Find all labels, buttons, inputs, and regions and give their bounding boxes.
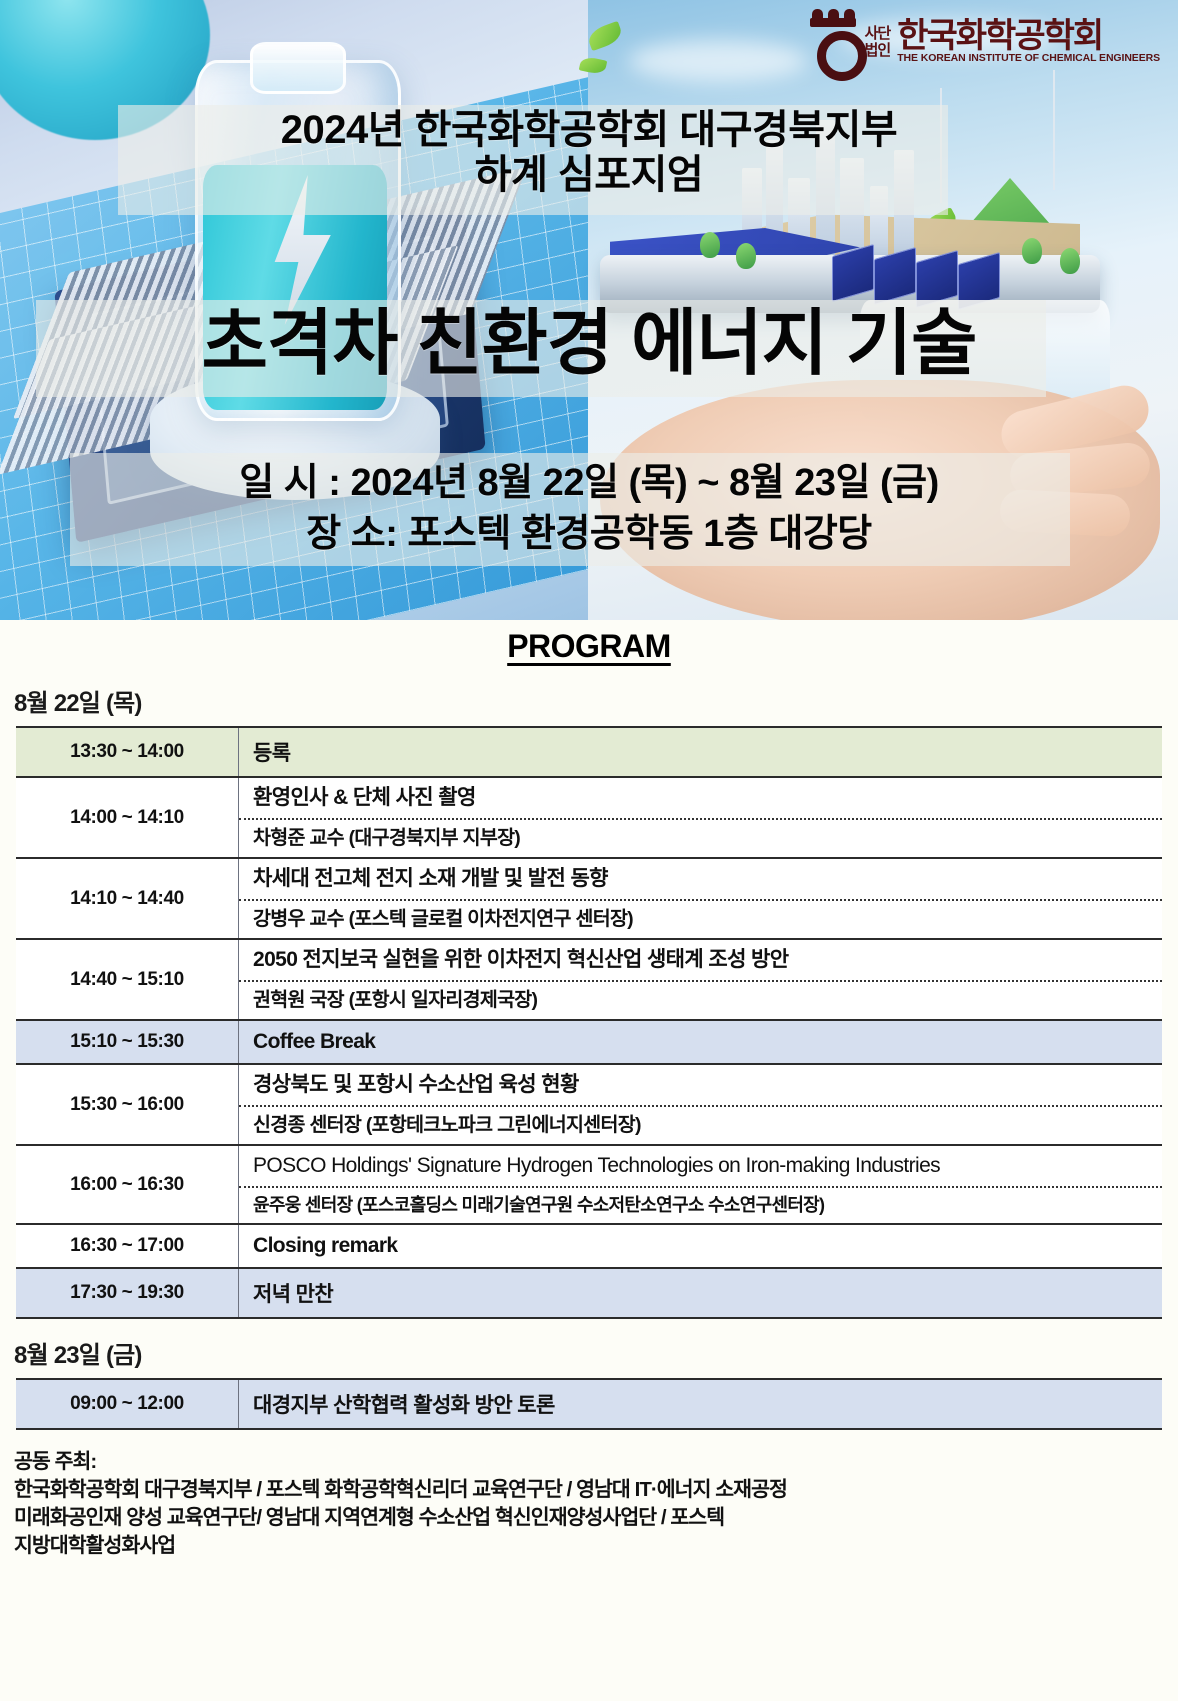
row-time: 15:30 ~ 16:00 [16,1064,239,1145]
table-row: 14:10 ~ 14:40 차세대 전고체 전지 소재 개발 및 발전 동향 강… [16,858,1162,939]
table-row: 15:30 ~ 16:00 경상북도 및 포항시 수소산업 육성 현황 신경종 … [16,1064,1162,1145]
session-speaker: 신경종 센터장 (포항테크노파크 그린에너지센터장) [239,1105,1162,1144]
co-hosts-block: 공동 주최: 한국화학공학회 대구경북지부 / 포스텍 화학공학혁신리더 교육연… [0,1430,1178,1570]
row-content: Closing remark [239,1224,1163,1268]
session-title: POSCO Holdings' Signature Hydrogen Techn… [239,1146,1162,1186]
row-content: Coffee Break [239,1020,1163,1064]
session-speaker: 권혁원 국장 (포항시 일자리경제국장) [239,980,1162,1019]
table-row: 14:40 ~ 15:10 2050 전지보국 실현을 위한 이차전지 혁신산업… [16,939,1162,1020]
row-single-label: 저녁 만찬 [239,1269,1162,1317]
row-single-label: Closing remark [239,1225,1162,1267]
row-time: 16:00 ~ 16:30 [16,1145,239,1224]
session-speaker: 차형준 교수 (대구경북지부 지부장) [239,818,1162,857]
row-time: 09:00 ~ 12:00 [16,1379,239,1429]
tree-icon [1022,238,1042,264]
row-content: 저녁 만찬 [239,1268,1163,1318]
logo-corporation-prefix: 사단 법인 [865,26,891,58]
table-row: 16:00 ~ 16:30 POSCO Holdings' Signature … [16,1145,1162,1224]
table-row: 09:00 ~ 12:00 대경지부 산학협력 활성화 방안 토론 [16,1379,1162,1429]
session-title: 차세대 전고체 전지 소재 개발 및 발전 동향 [239,859,1162,899]
co-hosts-line-3: 지방대학활성화사업 [14,1532,1178,1560]
row-time: 14:40 ~ 15:10 [16,939,239,1020]
poster-main-title: 초격차 친환경 에너지 기술 [0,304,1178,385]
row-time: 13:30 ~ 14:00 [16,727,239,777]
logo-prefix-line2: 법인 [865,43,891,58]
row-content: 2050 전지보국 실현을 위한 이차전지 혁신산업 생태계 조성 방안 권혁원… [239,939,1163,1020]
row-single-label: 대경지부 산학협력 활성화 방안 토론 [239,1380,1162,1428]
logo-prefix-line1: 사단 [865,26,891,41]
logo-names: 한국화학공학회 THE KOREAN INSTITUTE OF CHEMICAL… [897,20,1160,65]
logo-korean-name: 한국화학공학회 [897,20,1160,52]
row-time: 15:10 ~ 15:30 [16,1020,239,1064]
table-row: 15:10 ~ 15:30 Coffee Break [16,1020,1162,1064]
session-title: 환영인사 & 단체 사진 촬영 [239,778,1162,818]
event-date-line: 일 시 : 2024년 8월 22일 (목) ~ 8월 23일 (금) [0,458,1178,509]
event-venue-line: 장 소: 포스텍 환경공학동 1층 대강당 [0,509,1178,560]
tree-icon [700,232,720,258]
program-section: PROGRAM 8월 22일 (목) 13:30 ~ 14:00 등록 14:0… [0,620,1178,1570]
table-row: 16:30 ~ 17:00 Closing remark [16,1224,1162,1268]
row-content: 등록 [239,727,1163,777]
row-content: 경상북도 및 포항시 수소산업 육성 현황 신경종 센터장 (포항테크노파크 그… [239,1064,1163,1145]
tree-icon [1060,248,1080,274]
headline-line-2: 하계 심포지엄 [0,153,1178,198]
session-speaker: 강병우 교수 (포스텍 글로컬 이차전지연구 센터장) [239,899,1162,938]
row-time: 17:30 ~ 19:30 [16,1268,239,1318]
co-hosts-label: 공동 주최: [14,1448,1178,1476]
tree-icon [736,243,756,269]
program-table-day1: 13:30 ~ 14:00 등록 14:00 ~ 14:10 환영인사 & 단체… [16,726,1162,1319]
day-header-1: 8월 22일 (목) [0,667,1178,726]
row-single-label: Coffee Break [239,1021,1162,1063]
cloud-decor [628,40,808,82]
leaf-decor [586,21,625,51]
row-time: 14:10 ~ 14:40 [16,858,239,939]
headline-line-1: 2024년 한국화학공학회 대구경북지부 [0,108,1178,153]
table-row: 17:30 ~ 19:30 저녁 만찬 [16,1268,1162,1318]
session-title: 2050 전지보국 실현을 위한 이차전지 혁신산업 생태계 조성 방안 [239,940,1162,980]
kiche-emblem-icon [808,14,858,70]
event-headline: 2024년 한국화학공학회 대구경북지부 하계 심포지엄 [0,108,1178,198]
battery-cap [250,42,346,94]
row-time: 14:00 ~ 14:10 [16,777,239,858]
row-time: 16:30 ~ 17:00 [16,1224,239,1268]
logo-english-name: THE KOREAN INSTITUTE OF CHEMICAL ENGINEE… [897,52,1160,65]
table-row: 13:30 ~ 14:00 등록 [16,727,1162,777]
hero-banner: 사단 법인 한국화학공학회 THE KOREAN INSTITUTE OF CH… [0,0,1178,620]
session-title: 경상북도 및 포항시 수소산업 육성 현황 [239,1065,1162,1105]
row-content: 차세대 전고체 전지 소재 개발 및 발전 동향 강병우 교수 (포스텍 글로컬… [239,858,1163,939]
program-table-day2: 09:00 ~ 12:00 대경지부 산학협력 활성화 방안 토론 [16,1378,1162,1430]
row-content: POSCO Holdings' Signature Hydrogen Techn… [239,1145,1163,1224]
co-hosts-line-2: 미래화공인재 양성 교육연구단/ 영남대 지역연계형 수소산업 혁신인재양성사업… [14,1504,1178,1532]
program-heading: PROGRAM [0,620,1178,667]
table-row: 14:00 ~ 14:10 환영인사 & 단체 사진 촬영 차형준 교수 (대구… [16,777,1162,858]
poster-page: 사단 법인 한국화학공학회 THE KOREAN INSTITUTE OF CH… [0,0,1178,1701]
row-single-label: 등록 [239,728,1162,776]
kiche-logo: 사단 법인 한국화학공학회 THE KOREAN INSTITUTE OF CH… [808,14,1160,70]
row-content: 대경지부 산학협력 활성화 방안 토론 [239,1379,1163,1429]
event-info: 일 시 : 2024년 8월 22일 (목) ~ 8월 23일 (금) 장 소:… [0,458,1178,561]
co-hosts-line-1: 한국화학공학회 대구경북지부 / 포스텍 화학공학혁신리더 교육연구단 / 영남… [14,1476,1178,1504]
day-header-2: 8월 23일 (금) [0,1319,1178,1378]
session-speaker: 윤주웅 센터장 (포스코홀딩스 미래기술연구원 수소저탄소연구소 수소연구센터장… [239,1186,1162,1224]
row-content: 환영인사 & 단체 사진 촬영 차형준 교수 (대구경북지부 지부장) [239,777,1163,858]
